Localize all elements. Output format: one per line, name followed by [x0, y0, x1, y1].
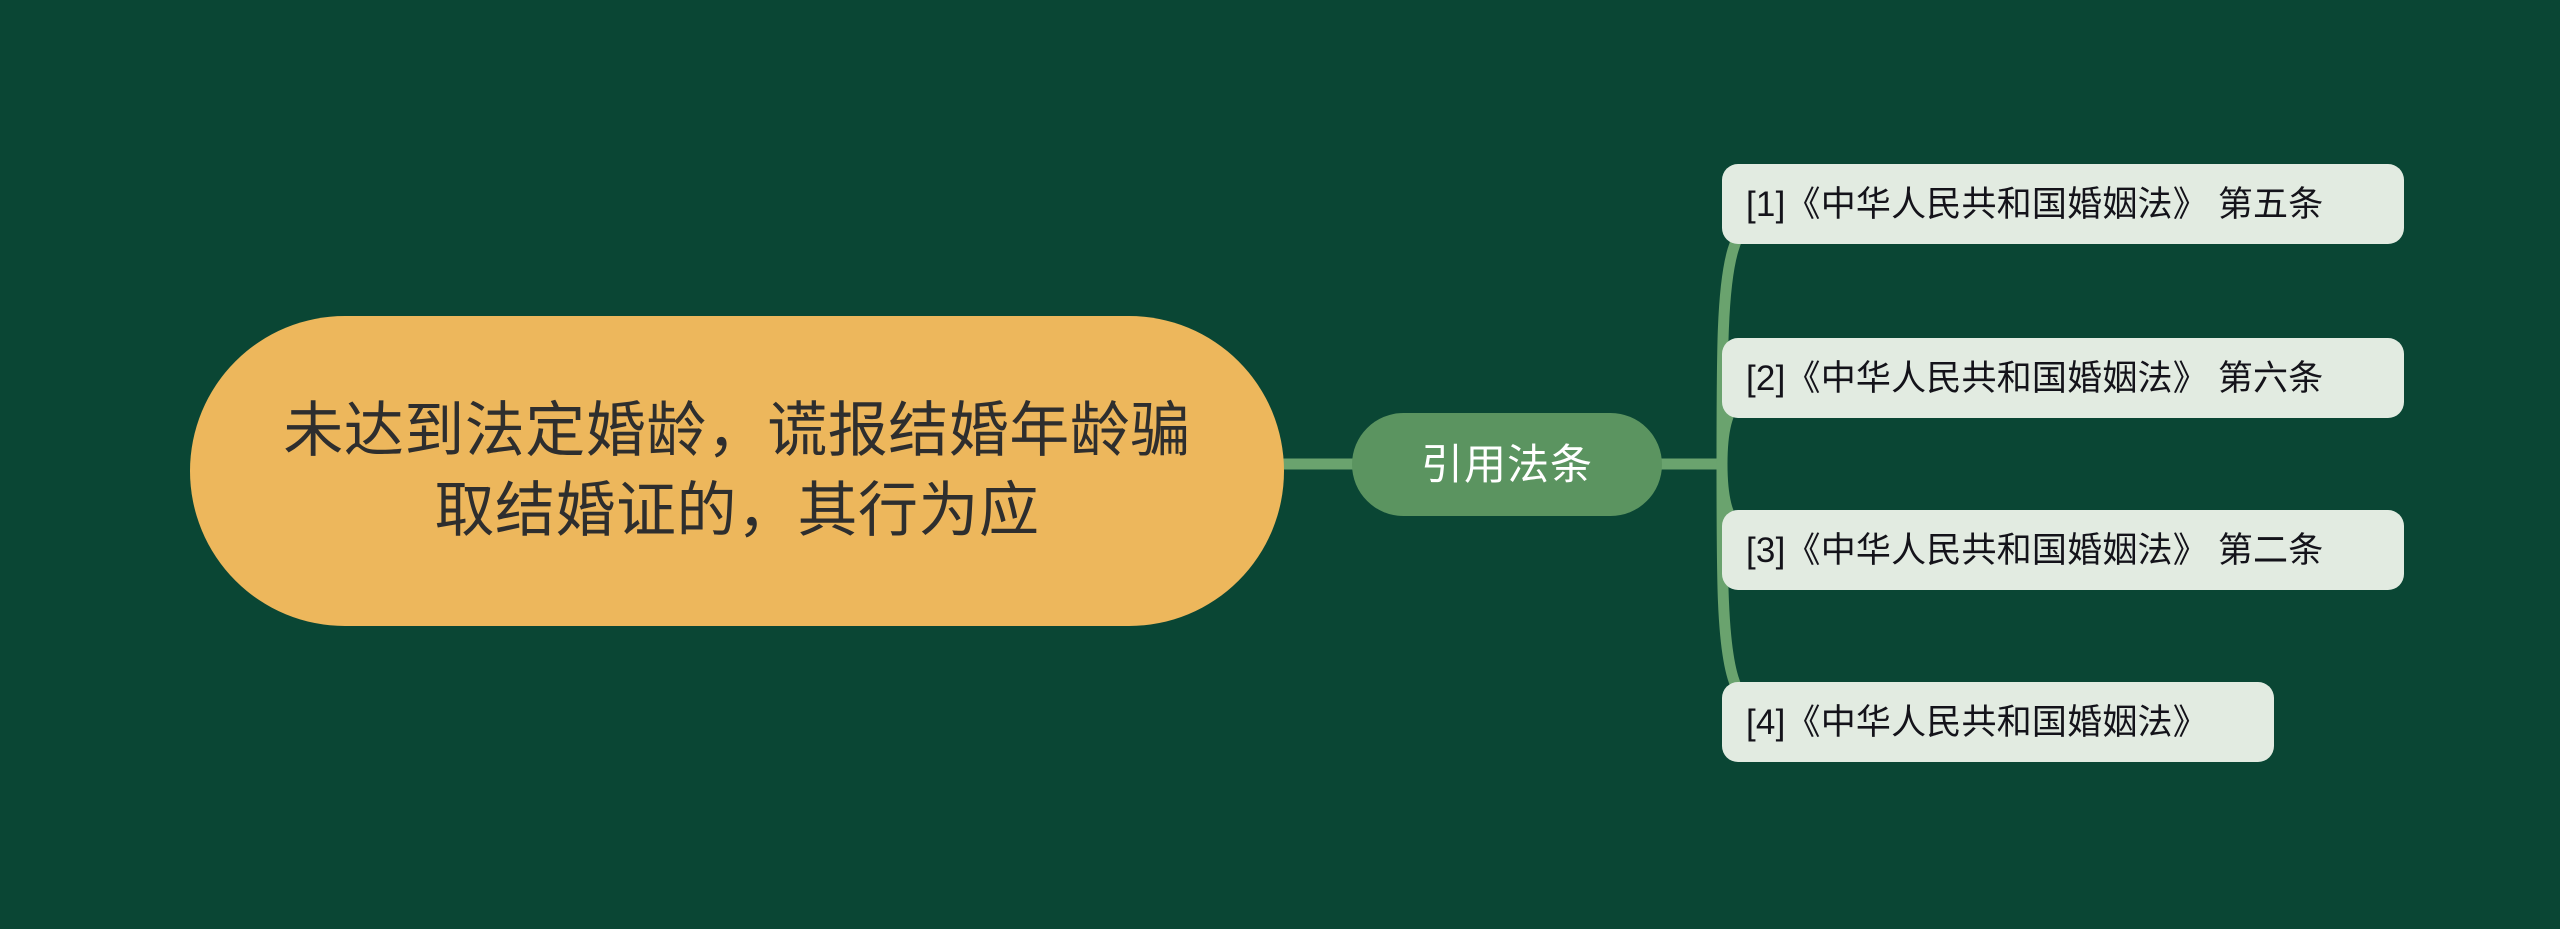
mindmap-canvas: 未达到法定婚龄，谎报结婚年龄骗取结婚证的，其行为应 引用法条 [1]《中华人民共… — [0, 0, 2560, 929]
branch-node-cited-laws[interactable]: 引用法条 — [1352, 413, 1662, 516]
leaf-node-1[interactable]: [1]《中华人民共和国婚姻法》 第五条 — [1722, 164, 2404, 244]
leaf-node-1-label: [1]《中华人民共和国婚姻法》 第五条 — [1746, 187, 2323, 222]
branch-node-label: 引用法条 — [1421, 444, 1593, 486]
root-node-label: 未达到法定婚龄，谎报结婚年龄骗取结婚证的，其行为应 — [260, 391, 1214, 551]
leaf-node-3-label: [3]《中华人民共和国婚姻法》 第二条 — [1746, 533, 2323, 568]
root-node[interactable]: 未达到法定婚龄，谎报结婚年龄骗取结婚证的，其行为应 — [190, 316, 1284, 626]
leaf-node-4[interactable]: [4]《中华人民共和国婚姻法》 — [1722, 682, 2274, 762]
leaf-node-4-label: [4]《中华人民共和国婚姻法》 — [1746, 705, 2208, 740]
leaf-node-2[interactable]: [2]《中华人民共和国婚姻法》 第六条 — [1722, 338, 2404, 418]
leaf-node-2-label: [2]《中华人民共和国婚姻法》 第六条 — [1746, 361, 2323, 396]
leaf-node-3[interactable]: [3]《中华人民共和国婚姻法》 第二条 — [1722, 510, 2404, 590]
